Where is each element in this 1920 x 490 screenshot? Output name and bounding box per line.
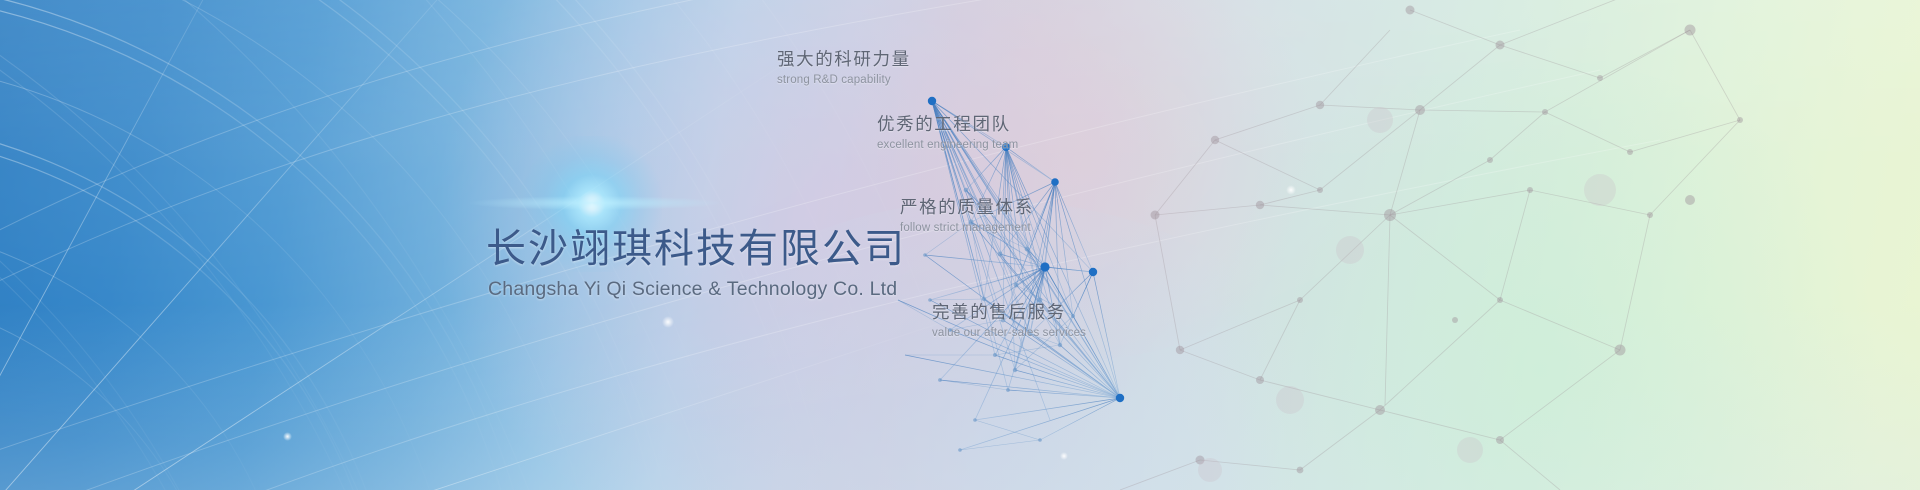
feature-label-cn: 优秀的工程团队 [877,111,1018,136]
ghost-links [1120,0,1740,490]
constellation-layer [0,0,1920,490]
feature-label-cn: 强大的科研力量 [777,46,911,71]
sparkle-dot [662,316,674,328]
vertical-tint-overlay [0,0,1920,490]
feature-label-en: follow strict management [900,222,1034,234]
company-name-en: Changsha Yi Qi Science & Technology Co. … [488,278,906,301]
sparkle-dot [1286,185,1296,195]
lens-flare-streak [470,196,720,210]
feature-label-en: value our after-sales services [932,327,1086,339]
company-hero-banner: 长沙翊琪科技有限公司 Changsha Yi Qi Science & Tech… [0,0,1920,490]
feature-item-rd: 强大的科研力量 strong R&D capability [777,46,911,86]
company-title-block: 长沙翊琪科技有限公司 Changsha Yi Qi Science & Tech… [486,228,906,301]
feature-label-en: strong R&D capability [777,74,911,86]
links-from-team-node [966,147,1120,398]
ghost-node-halos [1198,107,1616,482]
feature-label-cn: 严格的质量体系 [900,194,1034,219]
feature-label-cn: 完善的售后服务 [932,299,1086,324]
sparkle-dot [283,432,292,441]
sparkle-dot [1060,452,1068,460]
mint-bloom [1190,60,1890,490]
feature-item-team: 优秀的工程团队 excellent engineering team [877,111,1018,151]
feature-item-quality: 严格的质量体系 follow strict management [900,194,1034,234]
arc-wireframe-layer [0,0,1920,490]
ghost-nodes [1151,6,1744,474]
company-name-cn: 长沙翊琪科技有限公司 [486,228,906,270]
ghost-network-layer [0,0,1920,490]
feature-item-service: 完善的售后服务 value our after-sales services [932,299,1086,339]
feature-label-en: excellent engineering team [877,139,1018,151]
